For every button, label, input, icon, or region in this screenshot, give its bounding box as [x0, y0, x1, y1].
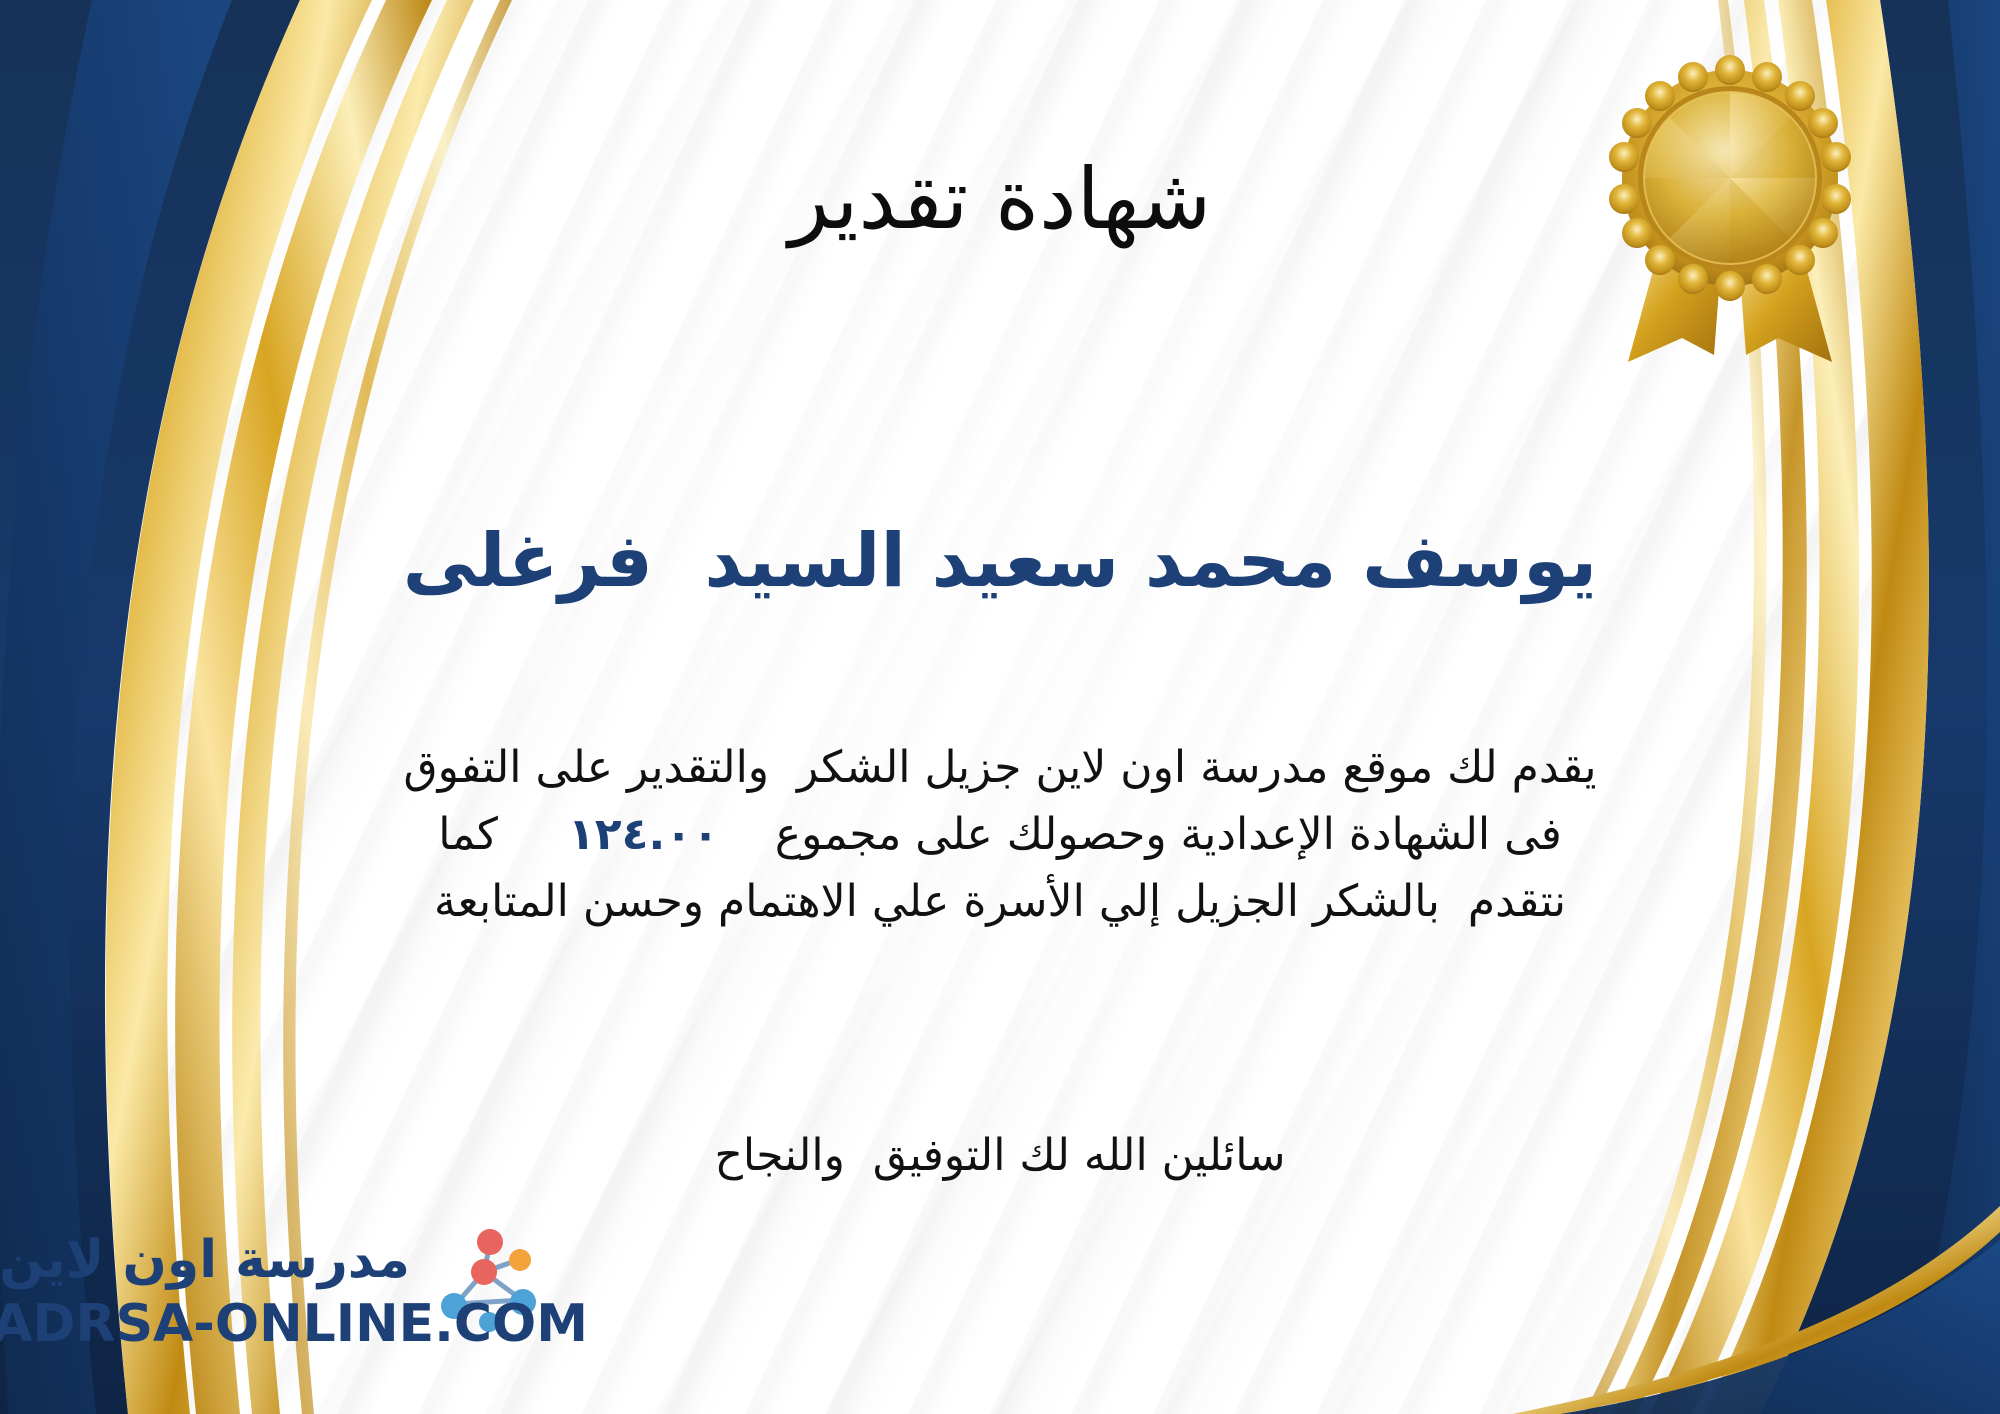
- body-line-3: نتقدم بالشكر الجزيل إلي الأسرة علي الاهت…: [40, 869, 1960, 936]
- body-line-2: فى الشهادة الإعدادية وحصولك على مجموع ١٢…: [40, 802, 1960, 869]
- body-line-2-suffix: كما: [438, 809, 498, 860]
- certificate-body: يقدم لك موقع مدرسة اون لاين جزيل الشكر و…: [40, 735, 1960, 936]
- brand-arabic-name: مدرسة اون لاين: [0, 1230, 410, 1290]
- certificate-title: شهادة تقدير: [0, 150, 2000, 248]
- score-value: ١٢٤.٠٠: [568, 809, 719, 860]
- body-line-2-text: فى الشهادة الإعدادية وحصولك على مجموع: [775, 809, 1562, 860]
- recipient-name: يوسف محمد سعيد السيد فرغلى: [0, 518, 2000, 604]
- closing-line: سائلين الله لك التوفيق والنجاح: [0, 1130, 2000, 1181]
- body-line-1: يقدم لك موقع مدرسة اون لاين جزيل الشكر و…: [40, 735, 1960, 802]
- brand-logo[interactable]: مدرسة اون لاين MADRSA-ONLINE.COM: [28, 1224, 588, 1384]
- certificate-canvas: شهادة تقدير يوسف محمد سعيد السيد فرغلى ي…: [0, 0, 2000, 1414]
- brand-website[interactable]: MADRSA-ONLINE.COM: [0, 1294, 588, 1354]
